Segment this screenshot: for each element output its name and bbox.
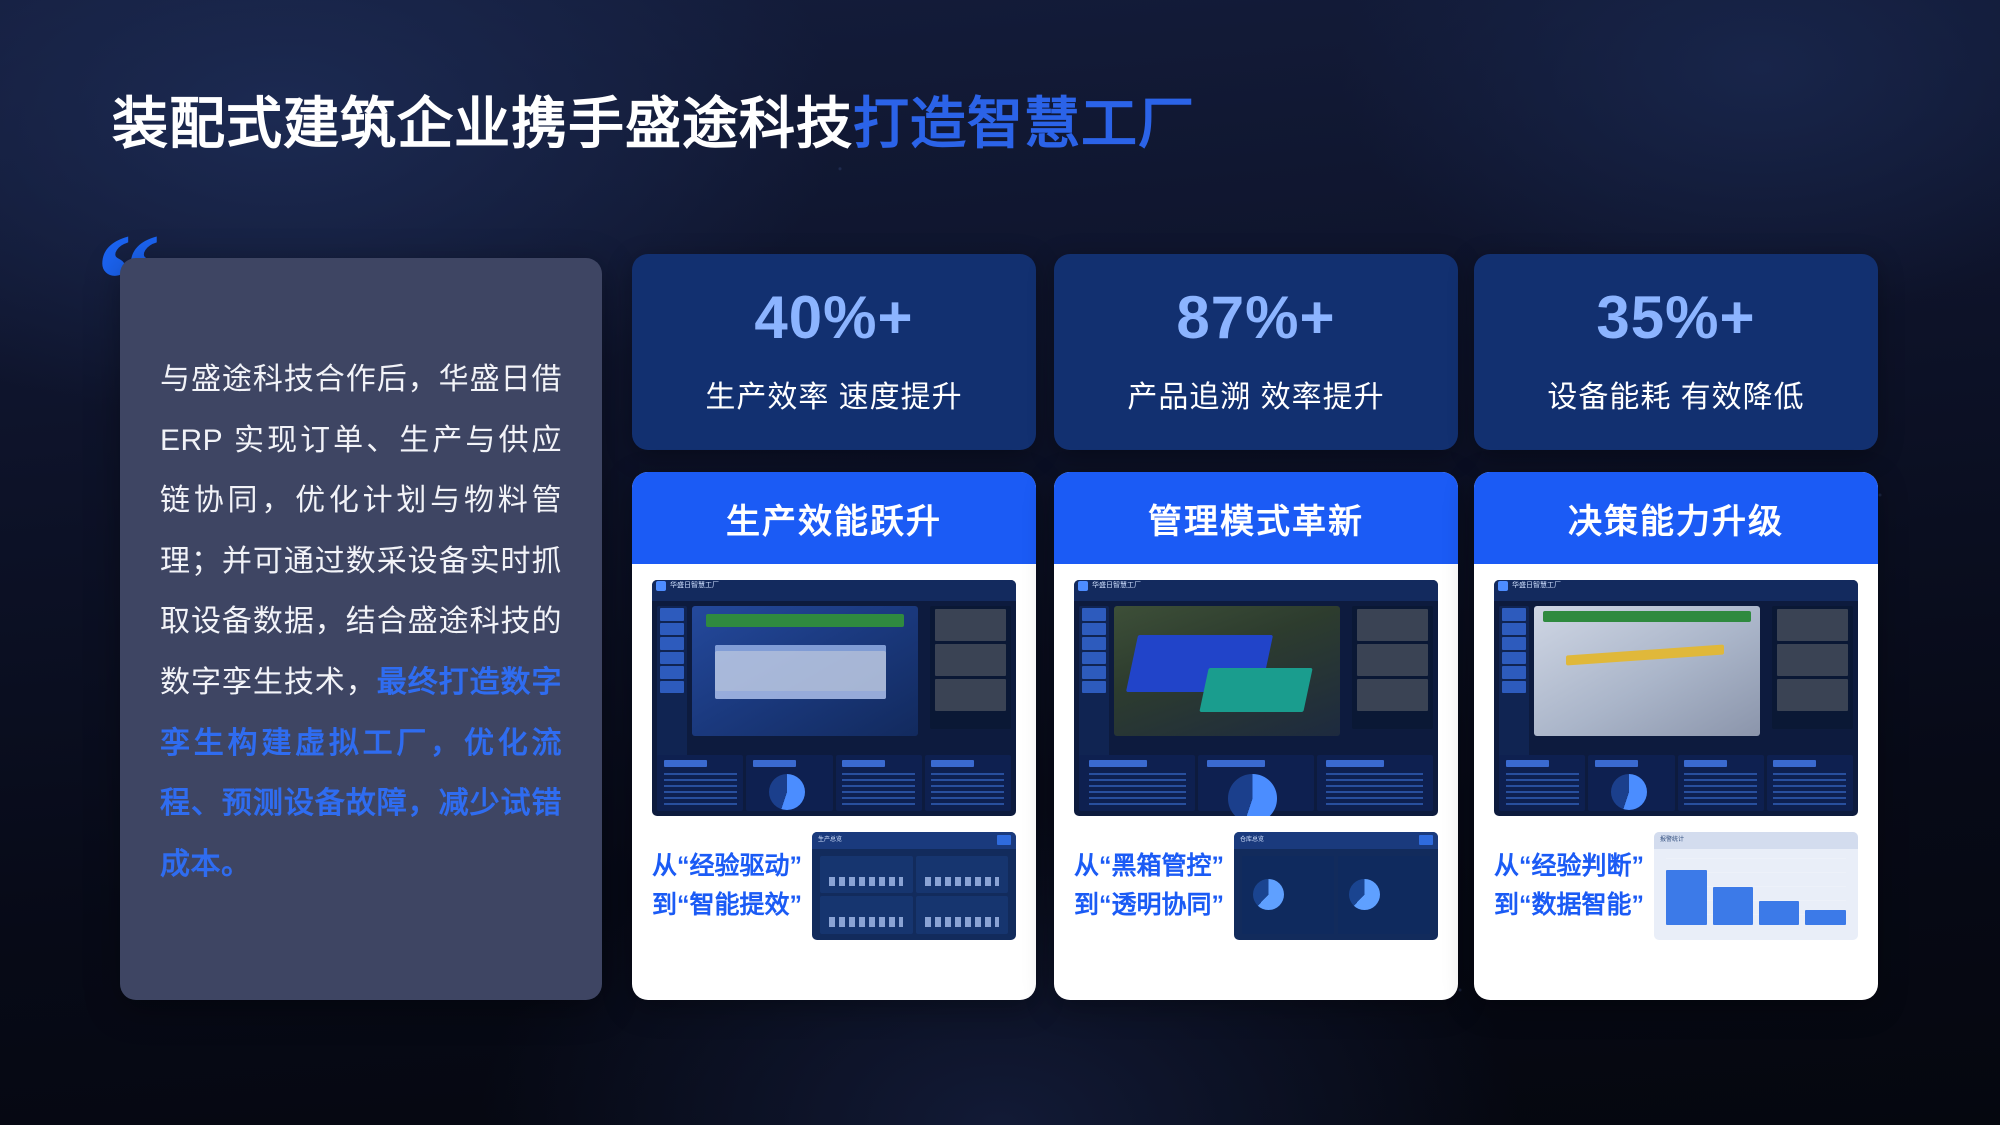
mini-panel-3: 报警统计 — [1654, 832, 1858, 940]
mini-panel-button-2 — [1419, 835, 1433, 845]
screenshot-topbar: 华盛日智慧工厂 — [1074, 580, 1438, 601]
feature-caption-1-line2: 到“智能提效” — [652, 886, 802, 925]
mini-panel-grid-1 — [820, 856, 1008, 934]
widget-table — [657, 755, 743, 812]
quote-text: 与盛途科技合作后，华盛日借 ERP 实现订单、生产与供应链协同，优化计划与物料管… — [160, 350, 562, 895]
widget-stats — [925, 755, 1011, 812]
widget-pie — [746, 755, 832, 812]
page-title-blue: 打造智慧工厂 — [853, 92, 1195, 155]
screenshot-bottom-widgets — [657, 755, 1010, 812]
screenshot-camera-panel — [1352, 606, 1432, 729]
stat-value-2: 87%+ — [1176, 288, 1335, 348]
feature-caption-row-2: 从“黑箱管控” 到“透明协同” 仓库总览 — [1074, 830, 1438, 942]
stat-label-1: 生产效率 速度提升 — [705, 372, 962, 416]
screenshot-topbar: 华盛日智慧工厂 — [652, 580, 1016, 601]
feature-caption-3: 从“经验判断” 到“数据智能” — [1494, 847, 1644, 925]
feature-caption-1: 从“经验驱动” 到“智能提效” — [652, 847, 802, 925]
mini-panel-title-2: 仓库总览 — [1240, 834, 1264, 843]
mini-panel-titlebar-3: 报警统计 — [1654, 832, 1858, 849]
mini-panel-titlebar-1: 生产总览 — [812, 832, 1016, 849]
page-title-white: 装配式建筑企业携手盛途科技 — [112, 92, 853, 155]
screenshot-bottom-widgets — [1079, 755, 1432, 812]
mini-panel-button-1 — [997, 835, 1011, 845]
screenshot-3d-view-2 — [1114, 606, 1340, 736]
stat-value-1: 40%+ — [754, 288, 913, 348]
mini-panel-title-1: 生产总览 — [818, 834, 842, 843]
feature-caption-2: 从“黑箱管控” 到“透明协同” — [1074, 847, 1224, 925]
feature-header-2: 管理模式革新 — [1054, 472, 1458, 564]
feature-caption-2-line2: 到“透明协同” — [1074, 886, 1224, 925]
stat-label-2: 产品追溯 效率提升 — [1127, 372, 1384, 416]
screenshot-title-3: 华盛日智慧工厂 — [1512, 580, 1561, 590]
screenshot-bottom-widgets — [1499, 755, 1852, 812]
feature-header-3: 决策能力升级 — [1474, 472, 1878, 564]
widget-table — [1079, 755, 1195, 812]
widget-list — [1678, 755, 1764, 812]
quote-text-plain: 与盛途科技合作后，华盛日借 ERP 实现订单、生产与供应链协同，优化计划与物料管… — [160, 363, 562, 699]
dashboard-screenshot-2: 华盛日智慧工厂 — [1074, 580, 1438, 816]
feature-header-1: 生产效能跃升 — [632, 472, 1036, 564]
feature-card-3: 决策能力升级 华盛日智慧工厂 从“经验判断” 到“数据智能” — [1474, 472, 1878, 1000]
stat-card-3: 35%+ 设备能耗 有效降低 — [1474, 254, 1878, 450]
slide-stage: 装配式建筑企业携手盛途科技打造智慧工厂 “ 与盛途科技合作后，华盛日借 ERP … — [0, 0, 2000, 1125]
screenshot-3d-view-1 — [692, 606, 918, 736]
feature-caption-row-3: 从“经验判断” 到“数据智能” 报警统计 — [1494, 830, 1858, 942]
mini-panel-2: 仓库总览 — [1234, 832, 1438, 940]
widget-table — [1499, 755, 1585, 812]
stat-card-2: 87%+ 产品追溯 效率提升 — [1054, 254, 1458, 450]
mini-panel-pies-2 — [1242, 856, 1430, 934]
dashboard-screenshot-1: 华盛日智慧工厂 — [652, 580, 1016, 816]
mini-bar-chart-3 — [1666, 858, 1846, 925]
screenshot-camera-panel — [1772, 606, 1852, 729]
mini-panel-title-3: 报警统计 — [1660, 834, 1684, 843]
factory-logo-icon — [1498, 581, 1508, 591]
widget-stats — [1767, 755, 1853, 812]
widget-pie — [1198, 755, 1314, 812]
widget-list — [836, 755, 922, 812]
feature-card-1: 生产效能跃升 华盛日智慧工厂 从“经验驱动” 到“智能提效” — [632, 472, 1036, 1000]
stat-card-1: 40%+ 生产效率 速度提升 — [632, 254, 1036, 450]
screenshot-topbar: 华盛日智慧工厂 — [1494, 580, 1858, 601]
screenshot-title-2: 华盛日智慧工厂 — [1092, 580, 1141, 590]
widget-pie — [1588, 755, 1674, 812]
feature-caption-1-line1: 从“经验驱动” — [652, 847, 802, 886]
screenshot-title-1: 华盛日智慧工厂 — [670, 580, 719, 590]
feature-caption-row-1: 从“经验驱动” 到“智能提效” 生产总览 — [652, 830, 1016, 942]
feature-caption-3-line1: 从“经验判断” — [1494, 847, 1644, 886]
page-title: 装配式建筑企业携手盛途科技打造智慧工厂 — [112, 96, 1195, 152]
factory-logo-icon — [656, 581, 666, 591]
feature-caption-2-line1: 从“黑箱管控” — [1074, 847, 1224, 886]
quote-card: 与盛途科技合作后，华盛日借 ERP 实现订单、生产与供应链协同，优化计划与物料管… — [120, 258, 602, 1000]
widget-list — [1317, 755, 1433, 812]
screenshot-camera-panel — [930, 606, 1010, 729]
screenshot-3d-view-3 — [1534, 606, 1760, 736]
stat-value-3: 35%+ — [1596, 288, 1755, 348]
factory-logo-icon — [1078, 581, 1088, 591]
feature-card-2: 管理模式革新 华盛日智慧工厂 从“黑箱管控” 到“透明协同” 仓库总览 — [1054, 472, 1458, 1000]
feature-caption-3-line2: 到“数据智能” — [1494, 886, 1644, 925]
mini-panel-titlebar-2: 仓库总览 — [1234, 832, 1438, 849]
mini-panel-1: 生产总览 — [812, 832, 1016, 940]
dashboard-screenshot-3: 华盛日智慧工厂 — [1494, 580, 1858, 816]
stat-label-3: 设备能耗 有效降低 — [1547, 372, 1804, 416]
